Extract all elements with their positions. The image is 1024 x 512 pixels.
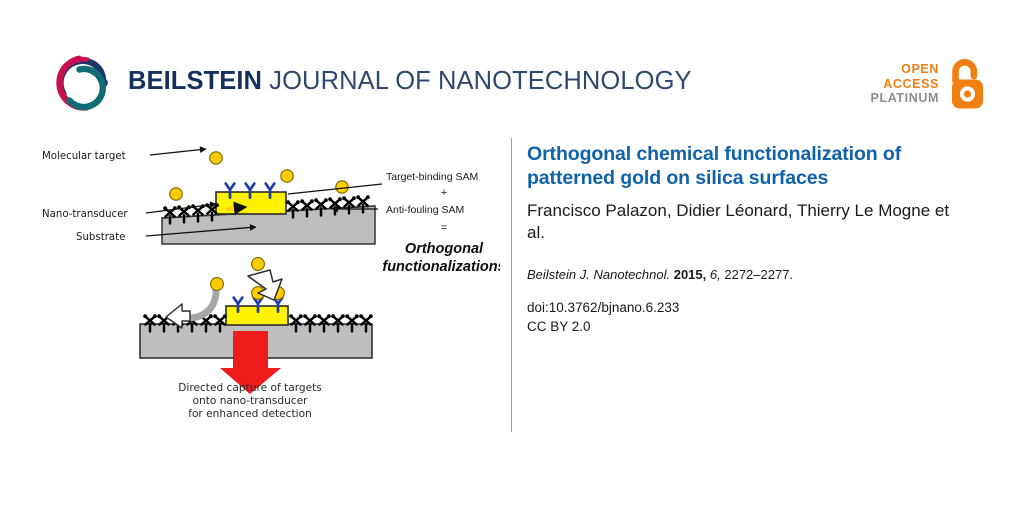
journal-brand-lockup[interactable]: BEILSTEIN JOURNAL OF NANOTECHNOLOGY: [52, 52, 692, 114]
caption-line-2: onto nano-transducer: [193, 395, 309, 407]
label-substrate: Substrate: [76, 232, 125, 243]
beilstein-spiral-logo-icon: [52, 52, 114, 114]
open-access-label-stack: OPEN ACCESS PLATINUM: [871, 62, 939, 106]
label-equals-sign: =: [441, 222, 447, 234]
open-access-line-access: ACCESS: [871, 77, 939, 92]
wordmark-beilstein: BEILSTEIN: [128, 67, 262, 95]
abstract-bottom-panel: Directed capture of targets onto nano-tr…: [140, 258, 373, 420]
graphical-abstract-figure: Molecular target Nano-transducer Substra…: [30, 136, 500, 436]
citation-year: 2015,: [674, 267, 707, 282]
label-anti-fouling-sam: Anti-fouling SAM: [386, 204, 464, 216]
label-nano-transducer: Nano-transducer: [42, 209, 128, 220]
caption-line-1: Directed capture of targets: [178, 382, 322, 394]
leader-molecular-target: [150, 149, 206, 155]
article-metadata-panel: Orthogonal chemical functionalization of…: [527, 143, 957, 337]
leader-target-binding-sam: [288, 184, 382, 194]
open-padlock-icon: [946, 57, 988, 111]
rejected-target-particle: [211, 278, 224, 291]
article-authors: Francisco Palazon, Didier Léonard, Thier…: [527, 200, 957, 245]
graphical-abstract: Molecular target Nano-transducer Substra…: [30, 136, 500, 436]
citation-volume: 6,: [710, 267, 721, 282]
incoming-target-particle: [252, 258, 265, 271]
page-header: BEILSTEIN JOURNAL OF NANOTECHNOLOGY OPEN…: [0, 0, 1024, 135]
article-title: Orthogonal chemical functionalization of…: [527, 143, 957, 191]
abstract-top-panel: Molecular target Nano-transducer Substra…: [42, 149, 500, 275]
citation-journal: Beilstein J. Nanotechnol.: [527, 267, 670, 282]
article-license[interactable]: CC BY 2.0: [527, 317, 957, 337]
label-molecular-target: Molecular target: [42, 151, 126, 162]
open-access-badge[interactable]: OPEN ACCESS PLATINUM: [871, 57, 988, 111]
emphasis-functionalizations: functionalizations: [382, 259, 500, 275]
open-access-line-platinum: PLATINUM: [871, 91, 939, 106]
article-doi-license-block: doi:10.3762/bjnano.6.233 CC BY 2.0: [527, 298, 957, 337]
column-divider: [511, 138, 512, 432]
label-plus-sign: +: [441, 187, 447, 199]
label-target-binding-sam: Target-binding SAM: [386, 171, 478, 183]
citation-pages: 2272–2277.: [724, 267, 793, 282]
journal-wordmark: BEILSTEIN JOURNAL OF NANOTECHNOLOGY: [128, 69, 692, 97]
article-doi[interactable]: doi:10.3762/bjnano.6.233: [527, 298, 957, 318]
caption-line-3: for enhanced detection: [188, 408, 312, 420]
article-citation: Beilstein J. Nanotechnol. 2015, 6, 2272–…: [527, 267, 957, 284]
wordmark-journal-of-nanotechnology: JOURNAL OF NANOTECHNOLOGY: [262, 67, 692, 95]
emphasis-orthogonal: Orthogonal: [405, 241, 484, 257]
open-access-line-open: OPEN: [871, 62, 939, 77]
leader-nano-transducer: [146, 204, 216, 213]
